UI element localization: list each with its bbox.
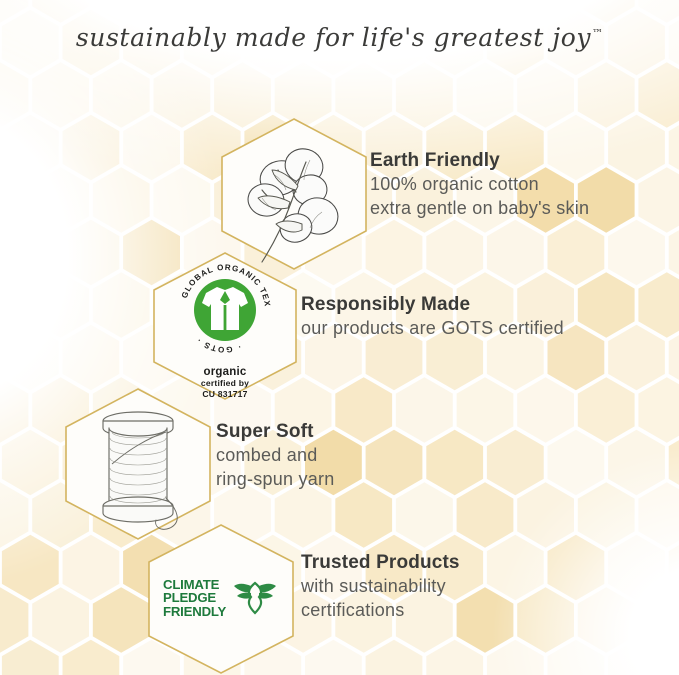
infographic-canvas: sustainably made for life's greatest joy…: [0, 0, 679, 675]
feature-copy: Earth Friendly 100% organic cotton extra…: [370, 149, 589, 221]
trademark-symbol: ™: [592, 27, 603, 40]
feature-title: Responsibly Made: [301, 293, 564, 317]
winged-hourglass-icon: [233, 577, 277, 619]
cpf-wordmark: CLIMATE PLEDGE FRIENDLY: [163, 578, 226, 618]
feature-copy: Super Soft combed and ring-spun yarn: [216, 420, 335, 492]
feature-trusted-products: CLIMATE PLEDGE FRIENDLY Trusted Products…: [145, 522, 645, 672]
feature-line: with sustainability: [301, 575, 460, 599]
feature-copy: Responsibly Made our products are GOTS c…: [301, 293, 564, 341]
feature-super-soft: Super Soft combed and ring-spun yarn: [62, 386, 512, 536]
feature-earth-friendly: Earth Friendly 100% organic cotton extra…: [218, 116, 658, 266]
feature-line: ring-spun yarn: [216, 468, 335, 492]
page-headline: sustainably made for life's greatest joy…: [0, 23, 679, 52]
gots-label-organic: organic: [165, 366, 285, 378]
feature-line: combed and: [216, 444, 335, 468]
feature-title: Trusted Products: [301, 551, 460, 575]
climate-pledge-friendly-icon: CLIMATE PLEDGE FRIENDLY: [163, 577, 277, 619]
cpf-word-pledge: PLEDGE: [163, 591, 226, 604]
feature-line: extra gentle on baby's skin: [370, 197, 589, 221]
feature-title: Earth Friendly: [370, 149, 589, 173]
feature-line: 100% organic cotton: [370, 173, 589, 197]
cotton-boll-sketch-icon: [218, 116, 370, 272]
headline-text: sustainably made for life's greatest joy: [76, 23, 591, 52]
cpf-word-climate: CLIMATE: [163, 578, 226, 591]
gots-seal-icon: GLOBAL ORGANIC TEXTILE STANDARD · GOTS ·: [173, 260, 277, 356]
cpf-word-friendly: FRIENDLY: [163, 605, 226, 618]
feature-line: certifications: [301, 599, 460, 623]
feature-line: our products are GOTS certified: [301, 317, 564, 341]
feature-responsibly-made: GLOBAL ORGANIC TEXTILE STANDARD · GOTS ·…: [150, 250, 640, 400]
thread-spool-sketch-icon: [62, 386, 214, 542]
feature-title: Super Soft: [216, 420, 335, 444]
gots-organic-certification-icon: GLOBAL ORGANIC TEXTILE STANDARD · GOTS ·…: [165, 260, 285, 400]
feature-copy: Trusted Products with sustainability cer…: [301, 551, 460, 623]
